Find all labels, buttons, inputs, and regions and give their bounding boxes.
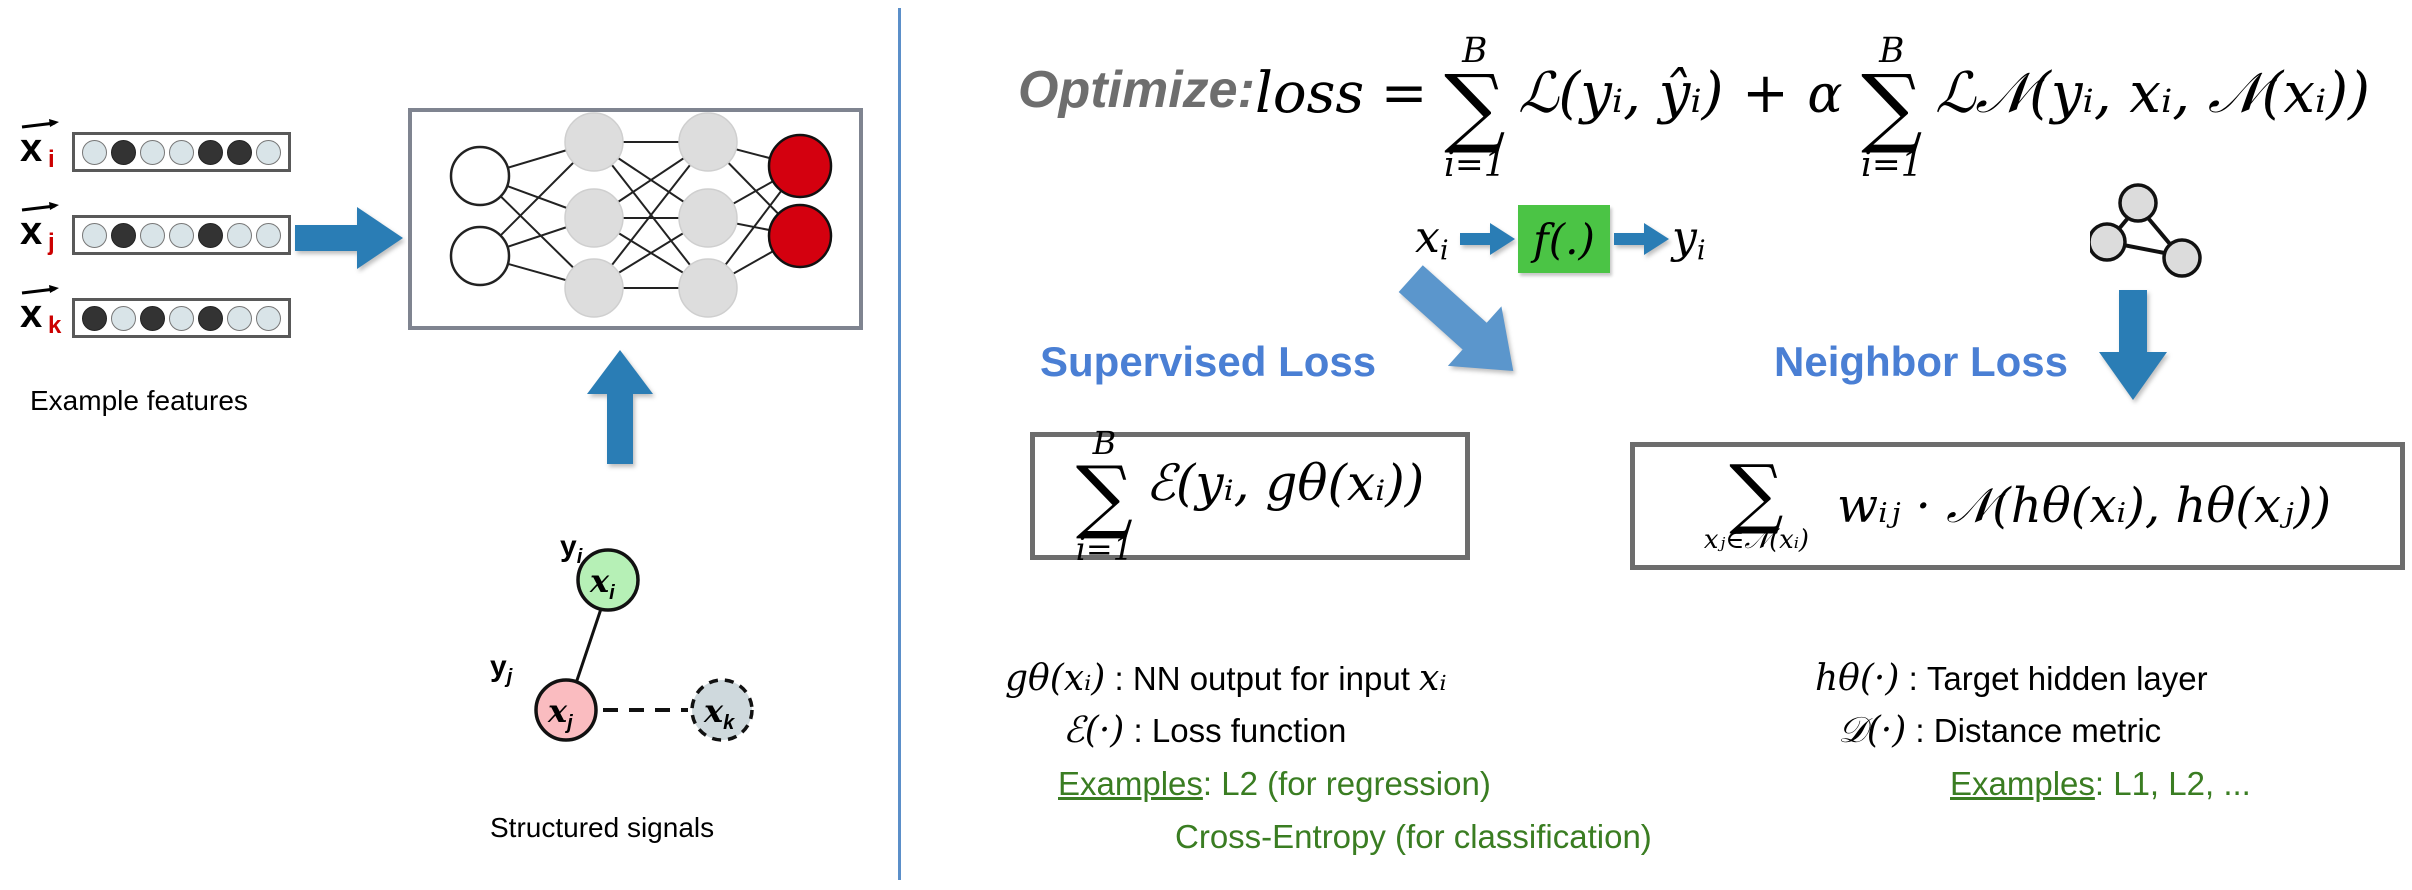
main-loss-equation: loss = B ∑ i=1 ℒ(yᵢ, ŷᵢ) + α B ∑ i=1 ℒ𝒩(… bbox=[1255, 34, 2370, 182]
optimize-label: Optimize: bbox=[1018, 60, 1255, 120]
summation-1-lower: i=1 bbox=[1444, 148, 1506, 182]
summation-neighbor-lower: xⱼ∈𝒩(xᵢ) bbox=[1704, 528, 1809, 554]
feature-label-sub: i bbox=[48, 148, 55, 172]
signals-to-network-arrow bbox=[585, 350, 655, 465]
structured-signals-graph bbox=[470, 520, 800, 770]
summation-supervised: B ∑ i=1 bbox=[1076, 427, 1133, 565]
neighbor-term: ℒ𝒩(yᵢ, xᵢ, 𝒩(xᵢ)) bbox=[1927, 61, 2370, 126]
feature-cell bbox=[111, 306, 136, 331]
neighbor-legend-line-1: hθ(·) : Target hidden layer bbox=[1815, 658, 2208, 699]
arrow-to-supervised-loss bbox=[1385, 262, 1535, 392]
pipeline-output-label: yi bbox=[1672, 212, 1706, 267]
feature-cell bbox=[82, 306, 107, 331]
feature-cell bbox=[140, 140, 165, 165]
nn-input-layer bbox=[451, 147, 509, 285]
neighbor-loss-formula: ∑ xⱼ∈𝒩(xᵢ) wᵢⱼ · 𝒩(hθ(xᵢ), hθ(xⱼ)) bbox=[1704, 458, 2331, 554]
neighbor-legend-line-2: 𝒟(·) : Distance metric bbox=[1838, 710, 2161, 752]
feature-vector-cells bbox=[72, 298, 291, 338]
graph-node-label-xi: xi bbox=[590, 562, 615, 605]
left-panel-example-features: x i x j bbox=[0, 0, 898, 890]
summation-supervised-lower: i=1 bbox=[1076, 533, 1133, 565]
feature-cell bbox=[140, 306, 165, 331]
feature-label-sub: k bbox=[48, 314, 61, 338]
neighbor-loss-body: wᵢⱼ · 𝒩(hθ(xᵢ), hθ(xⱼ)) bbox=[1809, 478, 2331, 535]
supervised-legend-line-1: gθ(xᵢ) : NN output for input xᵢ bbox=[1005, 658, 1447, 699]
feature-vector-label-j: x j bbox=[10, 203, 72, 267]
graph-target-label-yi: yi bbox=[560, 530, 582, 569]
feature-cell bbox=[82, 140, 107, 165]
sigma-icon: ∑ bbox=[1861, 68, 1922, 147]
alpha-symbol: α bbox=[1807, 65, 1842, 125]
summation-neighbor: ∑ xⱼ∈𝒩(xᵢ) bbox=[1704, 458, 1809, 554]
summation-2: B ∑ i=1 bbox=[1861, 34, 1923, 182]
sigma-icon: ∑ bbox=[1076, 459, 1133, 533]
feature-label-sub: j bbox=[48, 231, 55, 255]
pipeline-arrow-in bbox=[1460, 222, 1516, 256]
features-to-network-arrow bbox=[295, 205, 405, 271]
feature-label-var: x bbox=[20, 211, 42, 251]
feature-label-var: x bbox=[20, 294, 42, 334]
feature-cell bbox=[169, 306, 194, 331]
feature-cell bbox=[169, 140, 194, 165]
sigma-icon: ∑ bbox=[1729, 458, 1783, 528]
supervised-examples-line-1: Examples: L2 (for regression) bbox=[1058, 765, 1491, 803]
feature-cell bbox=[227, 140, 252, 165]
feature-vector-cells bbox=[72, 132, 291, 172]
graph-node-label-xk: xk bbox=[704, 692, 734, 735]
nn-output-layer bbox=[769, 135, 831, 267]
nn-hidden-layer-1 bbox=[565, 113, 623, 317]
neighbor-loss-title: Neighbor Loss bbox=[1774, 338, 2068, 386]
neural-network-graph bbox=[408, 108, 863, 330]
supervised-term: ℒ(yᵢ, ŷᵢ) bbox=[1510, 61, 1723, 126]
feature-cell bbox=[198, 223, 223, 248]
graph-target-label-yj: yj bbox=[490, 650, 512, 689]
feature-cell bbox=[169, 223, 194, 248]
supervised-examples-line-2: Cross-Entropy (for classification) bbox=[1175, 818, 1652, 856]
pipeline-input-label: xi bbox=[1415, 212, 1449, 267]
sigma-icon: ∑ bbox=[1444, 68, 1505, 147]
feature-vector-cells bbox=[72, 215, 291, 255]
supervised-loss-formula: B ∑ i=1 ℰ(yᵢ, gθ(xᵢ)) bbox=[1076, 427, 1425, 565]
summation-2-lower: i=1 bbox=[1861, 148, 1923, 182]
arrow-to-neighbor-loss bbox=[2095, 290, 2171, 402]
plus-sign: + bbox=[1728, 61, 1803, 126]
feature-vector-label-i: x i bbox=[10, 120, 72, 184]
feature-vector-row: x k bbox=[10, 286, 291, 350]
supervised-loss-formula-box: B ∑ i=1 ℰ(yᵢ, gθ(xᵢ)) bbox=[1030, 432, 1470, 560]
equals-sign: = bbox=[1369, 61, 1440, 126]
feature-cell bbox=[256, 223, 281, 248]
feature-cell bbox=[256, 306, 281, 331]
feature-cell bbox=[198, 140, 223, 165]
function-box-label: f(.) bbox=[1533, 215, 1595, 264]
pipeline-arrow-out bbox=[1614, 222, 1670, 256]
neighbor-graph-icon bbox=[2090, 168, 2220, 278]
feature-cell bbox=[256, 140, 281, 165]
feature-cell bbox=[82, 223, 107, 248]
supervised-loss-title: Supervised Loss bbox=[1040, 338, 1376, 386]
supervised-loss-body: ℰ(yᵢ, gθ(xᵢ)) bbox=[1138, 454, 1425, 512]
loss-lhs: loss bbox=[1255, 61, 1364, 126]
feature-cell bbox=[111, 140, 136, 165]
feature-cell bbox=[198, 306, 223, 331]
feature-cell bbox=[227, 223, 252, 248]
example-features-caption: Example features bbox=[30, 385, 248, 417]
nn-hidden-layer-2 bbox=[679, 113, 737, 317]
neighbor-examples-line: Examples: L1, L2, ... bbox=[1950, 765, 2251, 803]
summation-1: B ∑ i=1 bbox=[1444, 34, 1506, 182]
feature-vector-label-k: x k bbox=[10, 286, 72, 350]
feature-label-var: x bbox=[20, 128, 42, 168]
feature-vector-row: x j bbox=[10, 203, 291, 267]
feature-cell bbox=[227, 306, 252, 331]
panel-divider bbox=[898, 8, 901, 880]
neighbor-loss-formula-box: ∑ xⱼ∈𝒩(xᵢ) wᵢⱼ · 𝒩(hθ(xᵢ), hθ(xⱼ)) bbox=[1630, 442, 2405, 570]
feature-vector-row: x i bbox=[10, 120, 291, 184]
structured-signals-caption: Structured signals bbox=[490, 812, 714, 844]
supervised-legend-line-2: ℰ(·) : Loss function bbox=[1063, 710, 1346, 751]
feature-cell bbox=[111, 223, 136, 248]
graph-node-label-xj: xj bbox=[548, 692, 573, 735]
feature-cell bbox=[140, 223, 165, 248]
